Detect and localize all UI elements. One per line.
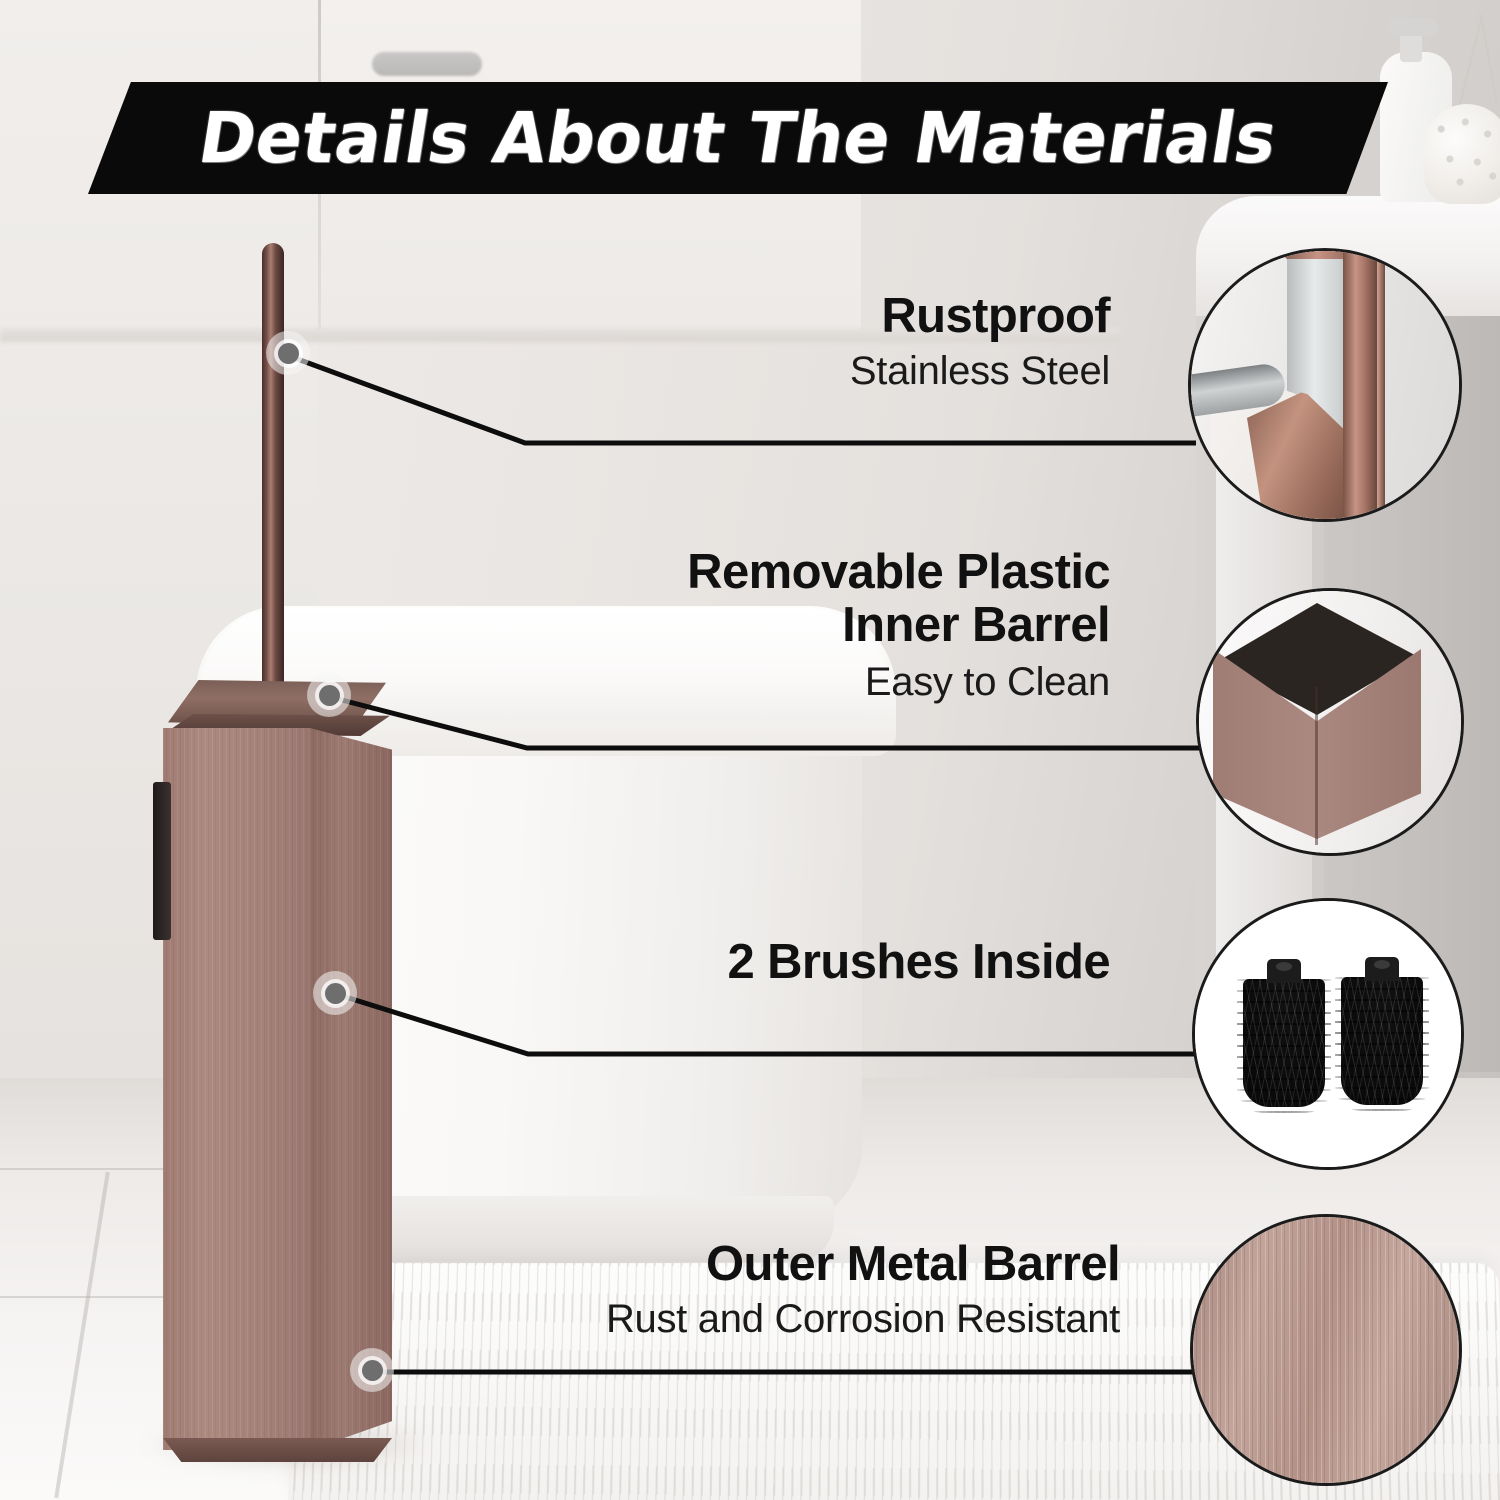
brush-cap-hole (1276, 962, 1292, 971)
callout-subtitle: Easy to Clean (480, 662, 1110, 702)
callout-title: 2 Brushes Inside (540, 938, 1110, 987)
callout-rustproof: Rustproof Stainless Steel (540, 292, 1110, 391)
anchor-dot-inner-barrel[interactable] (307, 673, 351, 717)
callout-outer-barrel: Outer Metal Barrel Rust and Corrosion Re… (420, 1240, 1120, 1339)
brush-bristles (1243, 979, 1325, 1107)
copper-rod-highlight (1377, 248, 1385, 522)
callout-inner-barrel: Removable Plastic Inner Barrel Easy to C… (480, 546, 1110, 702)
brush-cap-hole (1374, 960, 1390, 969)
brush-head (1243, 959, 1325, 1107)
anchor-dot-brushes[interactable] (313, 971, 357, 1015)
callout-subtitle: Rust and Corrosion Resistant (420, 1299, 1120, 1339)
brush-head (1341, 957, 1423, 1105)
detail-circle-inner-barrel (1196, 588, 1464, 856)
callout-subtitle: Stainless Steel (540, 351, 1110, 391)
page-title: Details About The Materials (193, 97, 1283, 179)
anchor-dot-outer-barrel[interactable] (350, 1348, 394, 1392)
header-banner: Details About The Materials (88, 82, 1388, 194)
detail-circle-outer-barrel (1190, 1214, 1462, 1486)
detail-circle-brushes (1192, 898, 1464, 1170)
infographic-canvas: Details About The Materials Rustproof St… (0, 0, 1500, 1500)
anchor-dot-rustproof[interactable] (266, 331, 310, 375)
brush-bristles (1341, 977, 1423, 1105)
leader-line-brushes (336, 994, 1200, 1054)
callout-brushes: 2 Brushes Inside (540, 938, 1110, 987)
leader-line-inner-barrel (330, 697, 1204, 748)
detail-circle-rustproof (1188, 248, 1462, 522)
brushed-metal-texture (1193, 1217, 1459, 1483)
callout-title: Outer Metal Barrel (420, 1240, 1120, 1289)
callout-title-line-2: Inner Barrel (480, 599, 1110, 652)
barrel-corner-edge (1315, 687, 1318, 845)
callout-title-line-1: Removable Plastic (480, 546, 1110, 599)
callout-title: Rustproof (540, 292, 1110, 341)
